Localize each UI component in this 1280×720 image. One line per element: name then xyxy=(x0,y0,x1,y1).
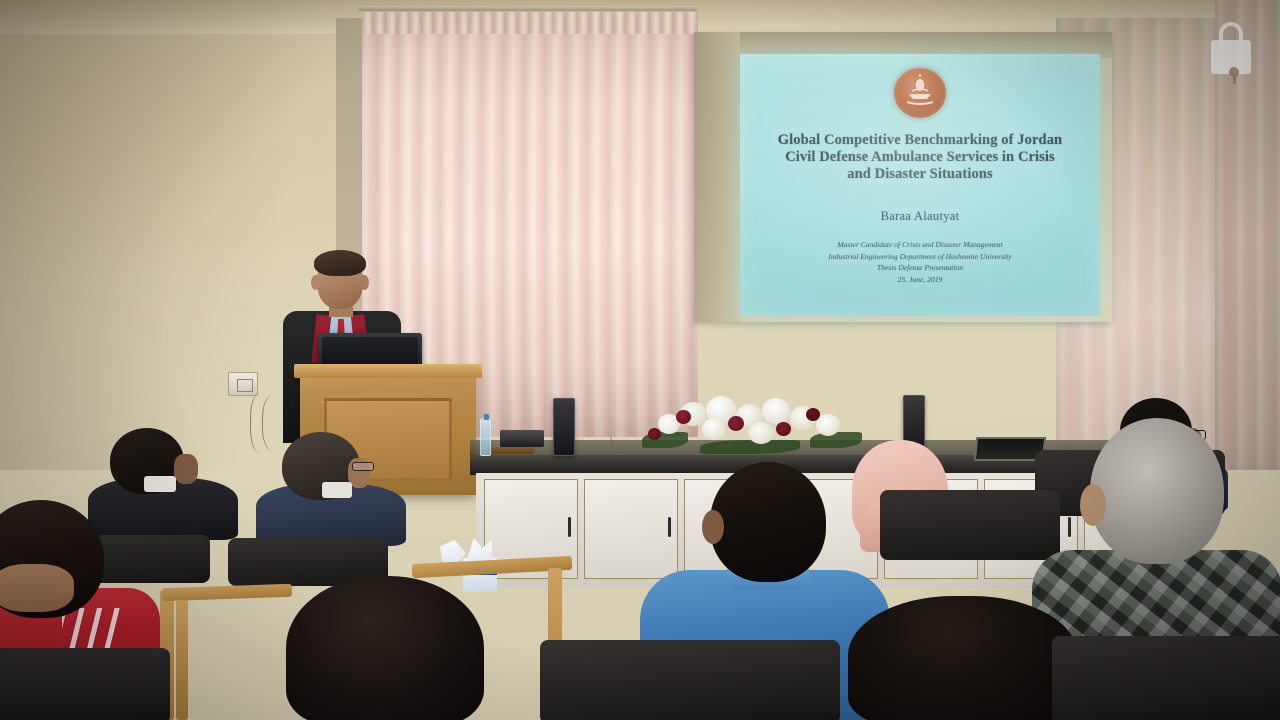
chair-front-left xyxy=(0,648,170,720)
attendee-front-right-dark xyxy=(848,596,1078,720)
cabinet-handle-icon[interactable] xyxy=(568,517,571,537)
attendee-collar xyxy=(144,476,176,492)
water-bottle xyxy=(480,418,491,456)
presenter-ear-left xyxy=(311,275,320,290)
curtain-rod xyxy=(358,6,698,11)
attendee-head xyxy=(710,462,826,582)
av-equipment-box xyxy=(500,430,544,447)
slide-title: Global Competitive Benchmarking of Jorda… xyxy=(752,132,1088,183)
podium-top-edge xyxy=(294,364,482,378)
eyeglasses-icon xyxy=(352,462,374,471)
attendee-neck xyxy=(0,564,74,612)
alcove-left-edge xyxy=(694,32,740,322)
attendee-left-navy-suit xyxy=(256,432,406,544)
attendee-head xyxy=(286,576,484,720)
chair-front-center xyxy=(540,640,840,720)
attendee-head xyxy=(848,596,1078,720)
attendee-collar xyxy=(322,482,352,498)
attendee-front-center-dark xyxy=(286,576,484,720)
attendee-ear xyxy=(702,510,724,544)
wall-outlet xyxy=(228,372,258,396)
attendee-head xyxy=(1090,418,1224,564)
attendee-face xyxy=(174,454,198,484)
presentation-photo: Global Competitive Benchmarking of Jorda… xyxy=(0,0,1280,720)
slide-content: Global Competitive Benchmarking of Jorda… xyxy=(740,54,1100,316)
slide-author: Baraa Alautyat xyxy=(740,209,1100,224)
presenter-hair xyxy=(314,250,366,276)
slide-meta-line-4: 25, June, 2019 xyxy=(740,274,1100,286)
slide-title-line-2: Civil Defense Ambulance Services in Cris… xyxy=(752,149,1088,166)
slide-title-line-3: and Disaster Situations xyxy=(752,166,1088,183)
slide-subtitle-block: Master Candidate of Crisis and Disaster … xyxy=(740,239,1100,285)
projection-screen: Global Competitive Benchmarking of Jorda… xyxy=(740,54,1100,316)
slide-meta-line-3: Thesis Defense Presentation xyxy=(740,262,1100,274)
slide-meta-line-1: Master Candidate of Crisis and Disaster … xyxy=(740,239,1100,251)
university-seal-icon xyxy=(894,68,946,118)
slide-meta-line-2: Industrial Engineering Department of Has… xyxy=(740,251,1100,263)
attendee-ear xyxy=(1080,484,1106,526)
speaker-left xyxy=(553,398,575,456)
presenter-ear-right xyxy=(360,275,369,290)
remote-control xyxy=(492,447,534,454)
slide-title-line-1: Global Competitive Benchmarking of Jorda… xyxy=(752,132,1088,149)
chair-arm-post xyxy=(176,600,188,720)
flower-arrangement xyxy=(640,392,865,458)
chair-front-right xyxy=(1052,636,1280,720)
